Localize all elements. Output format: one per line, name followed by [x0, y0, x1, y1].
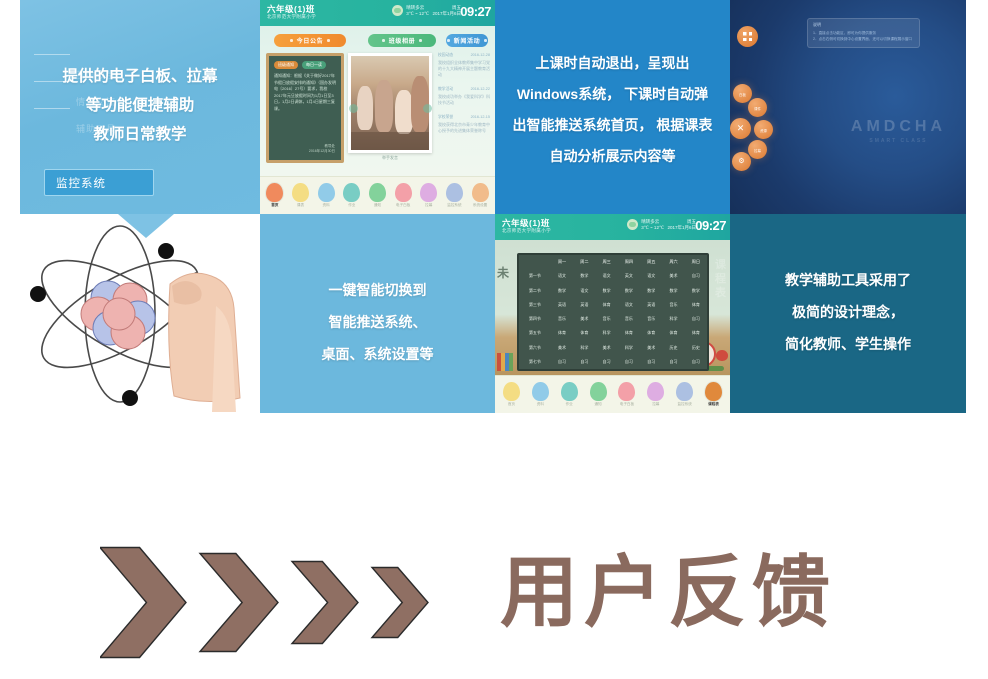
nav-item-icon	[318, 183, 335, 202]
photo-figure	[357, 86, 373, 130]
chevron-icon	[200, 554, 278, 652]
nav-item-作业[interactable]: 作业	[558, 382, 580, 407]
atom-diagram	[20, 214, 260, 413]
nav-item-icon	[618, 382, 635, 401]
cloud-icon	[627, 219, 638, 230]
schedule-cell: 语文	[640, 269, 662, 283]
schedule-column-header: 周日	[685, 255, 707, 269]
schedule-body: 未 课程表 周一周二周三周四周五周六周日第一节语文数学语文英文语文美术自习第二节…	[495, 240, 730, 375]
orb-label: 拉幕	[754, 148, 761, 153]
one-key-line: 一键智能切换到	[260, 274, 495, 306]
panel-tablet-schedule: 六年级(1)班 北京师范大学附属小学 晴转多云 3℃ ~ 12℃ 周五 2017…	[495, 214, 730, 413]
tooltip-line: 2．点击右侧可切换到中心设置界面，还可以切换课程展示窗口	[813, 36, 914, 42]
nav-item-label: 通知	[594, 402, 601, 407]
panel-atom-illustration	[20, 214, 260, 413]
news-head: 学校荣誉 2016-12-15	[438, 115, 490, 120]
schedule-cell: 体育	[685, 298, 707, 312]
nav-item-监控系统[interactable]: 监控系统	[443, 183, 465, 208]
board-tag: 班级通知	[274, 61, 298, 69]
desktop-orb-whiteboard[interactable]: 白板	[733, 84, 752, 103]
schedule-cell: 体育	[618, 326, 640, 340]
nav-item-icon	[590, 382, 607, 401]
schedule-cell: 英语	[573, 298, 595, 312]
feature-text-block: 提供的电子白板、拉幕 等功能便捷辅助 教师日常教学	[32, 62, 248, 149]
nav-item-课程表[interactable]: 课程表	[703, 382, 725, 407]
schedule-row: 第二节数学语文数学数学数学数学数学	[519, 284, 707, 298]
pill-label: 今日公告	[297, 36, 323, 45]
nav-item-label: 系统设置	[473, 203, 487, 208]
dot-icon	[327, 39, 330, 42]
schedule-cell: 数学	[551, 284, 573, 298]
auto-exit-line: Windows系统， 下课时自动弹	[495, 79, 730, 110]
desktop-watermark: AMDCHA SMART CLASS	[851, 118, 946, 144]
feature-text-line: 提供的电子白板、拉幕	[32, 62, 248, 91]
schedule-cell: 语文	[551, 269, 573, 283]
nav-item-电子白板[interactable]: 电子白板	[392, 183, 414, 208]
news-item[interactable]: 校园动态 2016-12-28 我校组织全体教师集中学习党的十九大精神开展主题教…	[438, 53, 490, 78]
schedule-cell: 体育	[685, 326, 707, 340]
nav-item-icon	[420, 183, 437, 202]
schedule-cell: 科学	[573, 341, 595, 355]
nav-item-作业[interactable]: 作业	[341, 183, 363, 208]
nav-item-课表[interactable]: 课表	[289, 183, 311, 208]
panel-tablet-home: 六年级(1)班 北京师范大学附属小学 晴转多云 3℃ ~ 12℃ 周五 2017…	[260, 0, 495, 214]
announcement-board[interactable]: 班级通知 每日一读 通知通知：根据《关于做好2017年节假日放假安排的通知》（国…	[266, 53, 344, 163]
slide-page: 互动教学 情景交流 辅助工具 提供的电子白板、拉幕 等功能便捷辅助 教师日常教学…	[0, 0, 988, 679]
nav-item-label: 监控系统	[447, 203, 461, 208]
clock-time: 09:27	[460, 4, 491, 19]
nav-item-label: 电子白板	[620, 402, 634, 407]
chevron-icon	[372, 568, 428, 638]
photo-figure	[375, 80, 393, 132]
pill-label: 新闻活动	[454, 36, 480, 45]
board-tag-group: 班级通知 每日一读	[274, 61, 336, 69]
news-date: 2016-12-15	[471, 115, 490, 120]
section-pill-album[interactable]: 班级相册	[368, 34, 436, 47]
bottom-banner: 用户反馈	[0, 520, 988, 679]
photo-prev-arrow[interactable]	[349, 104, 358, 113]
schedule-cell: 体育	[573, 326, 595, 340]
auto-exit-line: 出智能推送系统首页， 根据课表	[495, 110, 730, 141]
schedule-period-label: 第二节	[519, 284, 551, 298]
news-body: 我校获得北京市青少年教育中心授予的先进集体荣誉称号	[438, 122, 490, 134]
news-title: 学校荣誉	[438, 115, 453, 120]
schedule-cell: 数学	[685, 284, 707, 298]
news-date: 2016-12-22	[471, 87, 490, 92]
close-icon: ✕	[737, 124, 745, 133]
schedule-cell: 数学	[618, 284, 640, 298]
nav-item-拉幕[interactable]: 拉幕	[418, 183, 440, 208]
auto-exit-text-block: 上课时自动退出，呈现出 Windows系统， 下课时自动弹 出智能推送系统首页，…	[495, 48, 730, 172]
schedule-cell: 音乐	[551, 312, 573, 326]
tablet-bottom-nav: 首页课表资料作业通知电子白板拉幕监控系统系统设置	[260, 176, 495, 214]
schedule-cell: 科学	[618, 341, 640, 355]
nav-item-icon	[503, 382, 520, 401]
schedule-period-label: 第三节	[519, 298, 551, 312]
chevron-arrow-group	[100, 545, 470, 660]
desktop-orb-curtain[interactable]: 拉幕	[748, 140, 767, 159]
news-item[interactable]: 教学活动 2016-12-22 我校成功举办《我爱科学》科技节活动	[438, 87, 490, 106]
nav-item-icon	[561, 382, 578, 401]
schedule-cell: 自习	[573, 355, 595, 369]
news-title: 教学活动	[438, 87, 453, 92]
nav-item-label: 拉幕	[652, 402, 659, 407]
nav-item-通知[interactable]: 通知	[587, 382, 609, 407]
photo-desk	[351, 132, 429, 150]
schedule-column-header: 周一	[551, 255, 573, 269]
schedule-cell: 科学	[662, 312, 684, 326]
schedule-cell: 英文	[618, 269, 640, 283]
schedule-column-header: 周六	[662, 255, 684, 269]
schedule-column-header	[519, 255, 551, 269]
gear-icon: ⚙	[738, 157, 744, 166]
panel-feature-text: 互动教学 情景交流 辅助工具 提供的电子白板、拉幕 等功能便捷辅助 教师日常教学…	[20, 0, 260, 214]
schedule-cell: 自习	[595, 355, 617, 369]
dot-icon	[290, 39, 293, 42]
schedule-cell: 数学	[640, 284, 662, 298]
nav-item-label: 首页	[508, 402, 515, 407]
news-list: 校园动态 2016-12-28 我校组织全体教师集中学习党的十九大精神开展主题教…	[438, 53, 490, 143]
one-key-line: 桌面、系统设置等	[260, 338, 495, 370]
desktop-orb-resource[interactable]: 资源	[754, 120, 773, 139]
feature-text-line: 教师日常教学	[32, 120, 248, 149]
schedule-cell: 美术	[573, 312, 595, 326]
schedule-period-label: 第五节	[519, 326, 551, 340]
schedule-period-label: 第一节	[519, 269, 551, 283]
schedule-cell: 自习	[640, 355, 662, 369]
chalk-text-right: 课程表	[715, 258, 726, 300]
schedule-row: 第六节美术科学美术科学美术历史历史	[519, 341, 707, 355]
nav-item-label: 首页	[271, 203, 278, 208]
desktop-orb-courseware[interactable]: 课件	[748, 98, 767, 117]
weather-temp: 3℃ ~ 12℃	[641, 225, 664, 231]
photo-next-arrow[interactable]	[423, 104, 432, 113]
nav-item-icon	[343, 183, 360, 202]
schedule-cell: 自习	[685, 312, 707, 326]
books-decoration	[497, 353, 513, 371]
section-pill-announcement[interactable]: 今日公告	[274, 34, 346, 47]
nav-item-通知[interactable]: 通知	[366, 183, 388, 208]
nav-item-label: 通知	[374, 203, 381, 208]
schedule-cell: 语文	[595, 269, 617, 283]
schedule-period-label: 第七节	[519, 355, 551, 369]
tooltip-title: 说明	[813, 22, 914, 28]
blue-triangle-decoration	[118, 214, 174, 238]
nav-item-label: 资料	[323, 203, 330, 208]
schedule-column-header: 周四	[618, 255, 640, 269]
schedule-cell: 语文	[573, 284, 595, 298]
desktop-orb-settings[interactable]: ⚙	[732, 152, 751, 171]
dot-icon	[447, 39, 450, 42]
chevron-icon	[292, 562, 358, 644]
schedule-column-header: 周二	[573, 255, 595, 269]
apps-grid-icon[interactable]	[737, 26, 758, 47]
feature-grid: 互动教学 情景交流 辅助工具 提供的电子白板、拉幕 等功能便捷辅助 教师日常教学…	[20, 0, 966, 413]
apple-decoration	[716, 350, 728, 361]
nav-item-icon	[532, 382, 549, 401]
sign-date: 2016年12月30日	[309, 149, 335, 154]
clock-time: 09:27	[695, 218, 726, 233]
watermark-sub: SMART CLASS	[851, 138, 946, 144]
schedule-blackboard[interactable]: 周一周二周三周四周五周六周日第一节语文数学语文英文语文美术自习第二节数学语文数学…	[517, 253, 709, 371]
schedule-table: 周一周二周三周四周五周六周日第一节语文数学语文英文语文美术自习第二节数学语文数学…	[519, 255, 707, 369]
schedule-cell: 英语	[551, 298, 573, 312]
nav-item-icon	[369, 183, 386, 202]
hand-with-marker	[169, 272, 240, 412]
schedule-cell: 自习	[662, 355, 684, 369]
desktop-tooltip: 说明 1．直接点击功能区，即可为你提供服务 2．点击右侧可切换到中心设置界面，还…	[807, 18, 920, 48]
one-key-text-block: 一键智能切换到 智能推送系统、 桌面、系统设置等	[260, 274, 495, 370]
panel-minimal-design-text: 教学辅助工具采用了 极简的设计理念， 简化教师、学生操作	[730, 214, 966, 413]
schedule-cell: 数学	[573, 269, 595, 283]
schedule-row: 第一节语文数学语文英文语文美术自习	[519, 269, 707, 283]
news-head: 教学活动 2016-12-22	[438, 87, 490, 92]
orb-label: 白板	[739, 92, 746, 97]
schedule-cell: 自习	[618, 355, 640, 369]
board-signature: 教导处 2016年12月30日	[309, 144, 335, 154]
orb-label: 资源	[760, 128, 767, 133]
schedule-cell: 美术	[551, 341, 573, 355]
nav-item-监控系统[interactable]: 监控系统	[674, 382, 696, 407]
nav-item-icon	[266, 183, 283, 202]
nav-item-icon	[292, 183, 309, 202]
schedule-cell: 数学	[662, 284, 684, 298]
nav-item-首页[interactable]: 首页	[500, 382, 522, 407]
monitoring-system-button[interactable]: 监控系统	[44, 169, 154, 196]
pill-label: 班级相册	[389, 36, 415, 45]
chevron-icon	[100, 548, 186, 658]
tablet-body: 今日公告 班级相册 新闻活动 班级通知 每日一读	[260, 26, 495, 176]
nav-item-icon	[446, 183, 463, 202]
schedule-cell: 历史	[662, 341, 684, 355]
nav-item-label: 资料	[537, 402, 544, 407]
schedule-cell: 体育	[595, 298, 617, 312]
panel-one-key-text: 一键智能切换到 智能推送系统、 桌面、系统设置等	[260, 214, 495, 413]
minimal-line: 极简的设计理念，	[730, 296, 966, 328]
section-title: 用户反馈	[500, 550, 836, 636]
schedule-cell: 美术	[640, 341, 662, 355]
schedule-column-header: 周三	[595, 255, 617, 269]
school-name: 北京师范大学附属小学	[502, 228, 551, 234]
nav-item-系统设置[interactable]: 系统设置	[469, 183, 491, 208]
date-widget: 周五 2017年1月6日	[667, 219, 696, 230]
chalk-text-left: 未	[497, 264, 509, 281]
date-widget: 周五 2017年1月6日	[432, 5, 461, 16]
nav-item-label: 作业	[348, 203, 355, 208]
schedule-cell: 音乐	[640, 312, 662, 326]
schedule-row: 第四节音乐美术音乐音乐音乐科学自习	[519, 312, 707, 326]
schedule-row: 第五节体育体育科学体育体育体育体育	[519, 326, 707, 340]
dot-icon	[382, 39, 385, 42]
nav-item-label: 电子白板	[396, 203, 410, 208]
nav-item-icon	[705, 382, 722, 401]
nav-item-icon	[472, 183, 489, 202]
schedule-cell: 自习	[685, 269, 707, 283]
nav-item-电子白板[interactable]: 电子白板	[616, 382, 638, 407]
schedule-header-row: 周一周二周三周四周五周六周日	[519, 255, 707, 269]
watermark-brand: AMDCHA	[851, 118, 946, 135]
photo-caption: 举手发言	[348, 155, 432, 161]
dot-icon	[419, 39, 422, 42]
tablet-bottom-nav: 首页资料作业通知电子白板拉幕监控系统课程表	[495, 375, 730, 413]
cloud-icon	[392, 5, 403, 16]
photo-image	[351, 56, 429, 150]
auto-exit-line: 自动分析展示内容等	[495, 141, 730, 172]
panel-auto-exit-text: 上课时自动退出，呈现出 Windows系统， 下课时自动弹 出智能推送系统首页，…	[495, 0, 730, 214]
weather-widget: 晴转多云 3℃ ~ 12℃	[627, 219, 664, 230]
minimal-line: 简化教师、学生操作	[730, 328, 966, 360]
schedule-cell: 数学	[595, 284, 617, 298]
nav-item-icon	[647, 382, 664, 401]
schedule-row: 第七节自习自习自习自习自习自习自习	[519, 355, 707, 369]
date-full: 2017年1月6日	[432, 11, 461, 17]
news-date: 2016-12-28	[471, 53, 490, 58]
desktop-orb-exit[interactable]: ✕	[730, 118, 751, 139]
orb-label: 课件	[754, 106, 761, 111]
schedule-cell: 美术	[662, 269, 684, 283]
nav-item-icon	[676, 382, 693, 401]
nav-item-label: 监控系统	[678, 402, 692, 407]
schedule-cell: 科学	[595, 326, 617, 340]
schedule-row: 第三节英语英语体育语文英语音乐体育	[519, 298, 707, 312]
weather-temp: 3℃ ~ 12℃	[406, 11, 429, 17]
feature-text-line: 等功能便捷辅助	[32, 91, 248, 120]
one-key-line: 智能推送系统、	[260, 306, 495, 338]
schedule-period-label: 第四节	[519, 312, 551, 326]
news-body: 我校组织全体教师集中学习党的十九大精神开展主题教育活动	[438, 60, 490, 78]
news-body: 我校成功举办《我爱科学》科技节活动	[438, 94, 490, 106]
schedule-cell: 自习	[685, 355, 707, 369]
nav-item-资料[interactable]: 资料	[315, 183, 337, 208]
schedule-column-header: 周五	[640, 255, 662, 269]
schedule-cell: 语文	[618, 298, 640, 312]
schedule-cell: 自习	[551, 355, 573, 369]
board-body: 通知通知：根据《关于做好2017年节假日放假安排的通知》（国办发明电〔2016〕…	[274, 73, 336, 112]
auto-exit-line: 上课时自动退出，呈现出	[495, 48, 730, 79]
news-item[interactable]: 学校荣誉 2016-12-15 我校获得北京市青少年教育中心授予的先进集体荣誉称…	[438, 115, 490, 134]
tablet-header: 六年级(1)班 北京师范大学附属小学 晴转多云 3℃ ~ 12℃ 周五 2017…	[495, 214, 730, 240]
nav-item-icon	[395, 183, 412, 202]
board-tag: 每日一读	[302, 61, 326, 69]
schedule-cell: 历史	[685, 341, 707, 355]
nav-item-label: 作业	[566, 402, 573, 407]
schedule-cell: 音乐	[662, 298, 684, 312]
schedule-cell: 音乐	[618, 312, 640, 326]
schedule-cell: 体育	[551, 326, 573, 340]
news-title: 校园动态	[438, 53, 453, 58]
news-head: 校园动态 2016-12-28	[438, 53, 490, 58]
nav-item-label: 课表	[297, 203, 304, 208]
nav-item-首页[interactable]: 首页	[264, 183, 286, 208]
schedule-period-label: 第六节	[519, 341, 551, 355]
school-name: 北京师范大学附属小学	[267, 14, 316, 20]
section-pill-news[interactable]: 新闻活动	[446, 34, 488, 47]
schedule-cell: 美术	[595, 341, 617, 355]
nav-item-资料[interactable]: 资料	[529, 382, 551, 407]
minimal-line: 教学辅助工具采用了	[730, 264, 966, 296]
panel-desktop-screen: 说明 1．直接点击功能区，即可为你提供服务 2．点击右侧可切换到中心设置界面，还…	[730, 0, 966, 214]
dot-icon	[484, 39, 487, 42]
grid-glyph	[743, 32, 752, 41]
tablet-header: 六年级(1)班 北京师范大学附属小学 晴转多云 3℃ ~ 12℃ 周五 2017…	[260, 0, 495, 26]
schedule-cell: 音乐	[595, 312, 617, 326]
schedule-cell: 体育	[662, 326, 684, 340]
minimal-text-block: 教学辅助工具采用了 极简的设计理念， 简化教师、学生操作	[730, 264, 966, 360]
class-photo[interactable]	[348, 53, 432, 153]
schedule-cell: 体育	[640, 326, 662, 340]
date-full: 2017年1月6日	[667, 225, 696, 231]
schedule-cell: 英语	[640, 298, 662, 312]
nav-item-拉幕[interactable]: 拉幕	[645, 382, 667, 407]
nav-item-label: 拉幕	[425, 203, 432, 208]
nav-item-label: 课程表	[708, 402, 719, 407]
weather-widget: 晴转多云 3℃ ~ 12℃	[392, 5, 429, 16]
